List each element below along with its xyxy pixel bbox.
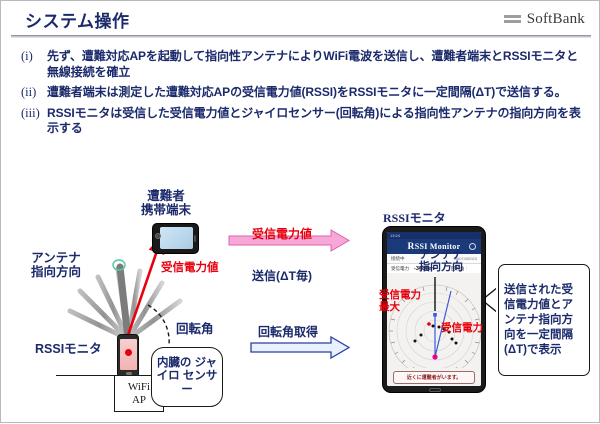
header-divider bbox=[11, 35, 591, 38]
wifi-ap-line1: WiFi bbox=[128, 381, 150, 394]
victim-phone-label: 遭難者 携帯端末 bbox=[141, 189, 191, 217]
list-text: 遭難者端末は測定した遭難対応APの受信電力値(RSSI)をRSSIモニタに一定間… bbox=[47, 85, 589, 101]
rssi-monitor-label: RSSIモニタ bbox=[35, 342, 102, 356]
list-text: 先ず、遭難対応APを起動して指向性アンテナによりWiFi電波を送信し、遭難者端末… bbox=[47, 49, 589, 80]
overlay-power: 受信電力 bbox=[441, 322, 483, 334]
alert-banner-text: 近くに遭難者がいます。 bbox=[407, 374, 462, 381]
gyro-sensor-text: 内臓の ジャイロ センサー bbox=[152, 357, 222, 398]
wifi-ap-line2: AP bbox=[132, 394, 146, 407]
display-label-line1: RSSIモニタ bbox=[383, 211, 446, 225]
victim-phone bbox=[152, 223, 199, 254]
rotation-angle-label: 回転角 bbox=[176, 322, 214, 336]
display-callout-text: 送信された受信電力値とアンテナ指向方向を一定間隔(ΔT)で表示 bbox=[499, 283, 589, 358]
speaker-icon bbox=[194, 235, 197, 242]
camera-icon bbox=[155, 233, 161, 239]
slide-root: システム操作 SoftBank (i) 先ず、遭難対応APを起動して指向性アンテ… bbox=[0, 0, 600, 423]
record-dot-icon bbox=[125, 349, 132, 356]
softbank-brand: SoftBank bbox=[504, 11, 585, 28]
status-bar: 13:24 bbox=[387, 232, 481, 239]
gyro-sensor-bubble: 内臓の ジャイロ センサー bbox=[151, 347, 223, 407]
alert-banner: 近くに遭難者がいます。 bbox=[393, 371, 475, 384]
send-power-line2: 送信(ΔT毎) bbox=[252, 269, 312, 283]
list-item: (i) 先ず、遭難対応APを起動して指向性アンテナによりWiFi電波を送信し、遭… bbox=[17, 49, 589, 80]
send-power-arrow-label: 受信電力値 送信(ΔT毎) bbox=[252, 199, 312, 311]
antenna-direction-label: アンテナ 指向方向 bbox=[31, 251, 81, 279]
power-label: 受信電力 bbox=[391, 266, 409, 272]
connection-status: 接続中 bbox=[391, 256, 405, 262]
rotation-acquire-arrow bbox=[251, 337, 349, 358]
list-marker: (iii) bbox=[17, 106, 47, 121]
gear-icon[interactable] bbox=[469, 243, 476, 250]
overlay-power-max: 受信電力 最大 bbox=[379, 289, 421, 313]
list-item: (ii) 遭難者端末は測定した遭難対応APの受信電力値(RSSI)をRSSIモニ… bbox=[17, 85, 589, 101]
app-title-initial: R bbox=[408, 242, 415, 252]
display-callout: 送信された受信電力値とアンテナ指向方向を一定間隔(ΔT)で表示 bbox=[498, 264, 590, 376]
brand-label: SoftBank bbox=[527, 11, 585, 28]
list-marker: (i) bbox=[17, 49, 47, 64]
rssi-monitor-device bbox=[117, 334, 139, 378]
compass-view[interactable] bbox=[387, 273, 481, 368]
send-power-line1: 受信電力値 bbox=[252, 227, 312, 241]
received-power-label: 受信電力値 bbox=[161, 261, 219, 275]
overlay-antenna-direction: アンテナ 指向方向 bbox=[419, 249, 463, 273]
victim-phone-screen bbox=[160, 227, 193, 249]
system-diagram: 遭難者 携帯端末 受信電力値 アンテナ 指向方向 RSSIモニタ WiFi AP… bbox=[1, 179, 600, 424]
list-text: RSSIモニタは受信した受信電力値とジャイロセンサー(回転角)による指向性アンテ… bbox=[47, 106, 589, 137]
list-item: (iii) RSSIモニタは受信した受信電力値とジャイロセンサー(回転角)による… bbox=[17, 106, 589, 137]
list-marker: (ii) bbox=[17, 85, 47, 100]
steps-list: (i) 先ず、遭難対応APを起動して指向性アンテナによりWiFi電波を送信し、遭… bbox=[17, 49, 589, 142]
rotation-acquire-label: 回転角取得 bbox=[258, 325, 318, 339]
page-title: システム操作 bbox=[25, 7, 130, 32]
slide-header: システム操作 SoftBank bbox=[1, 1, 599, 39]
alert-footer: 近くに遭難者がいます。 bbox=[387, 368, 481, 386]
status-time: 13:24 bbox=[390, 233, 400, 238]
phone-home-button[interactable] bbox=[429, 388, 441, 392]
softbank-bars-icon bbox=[504, 14, 521, 25]
compass-vectors bbox=[387, 273, 481, 368]
